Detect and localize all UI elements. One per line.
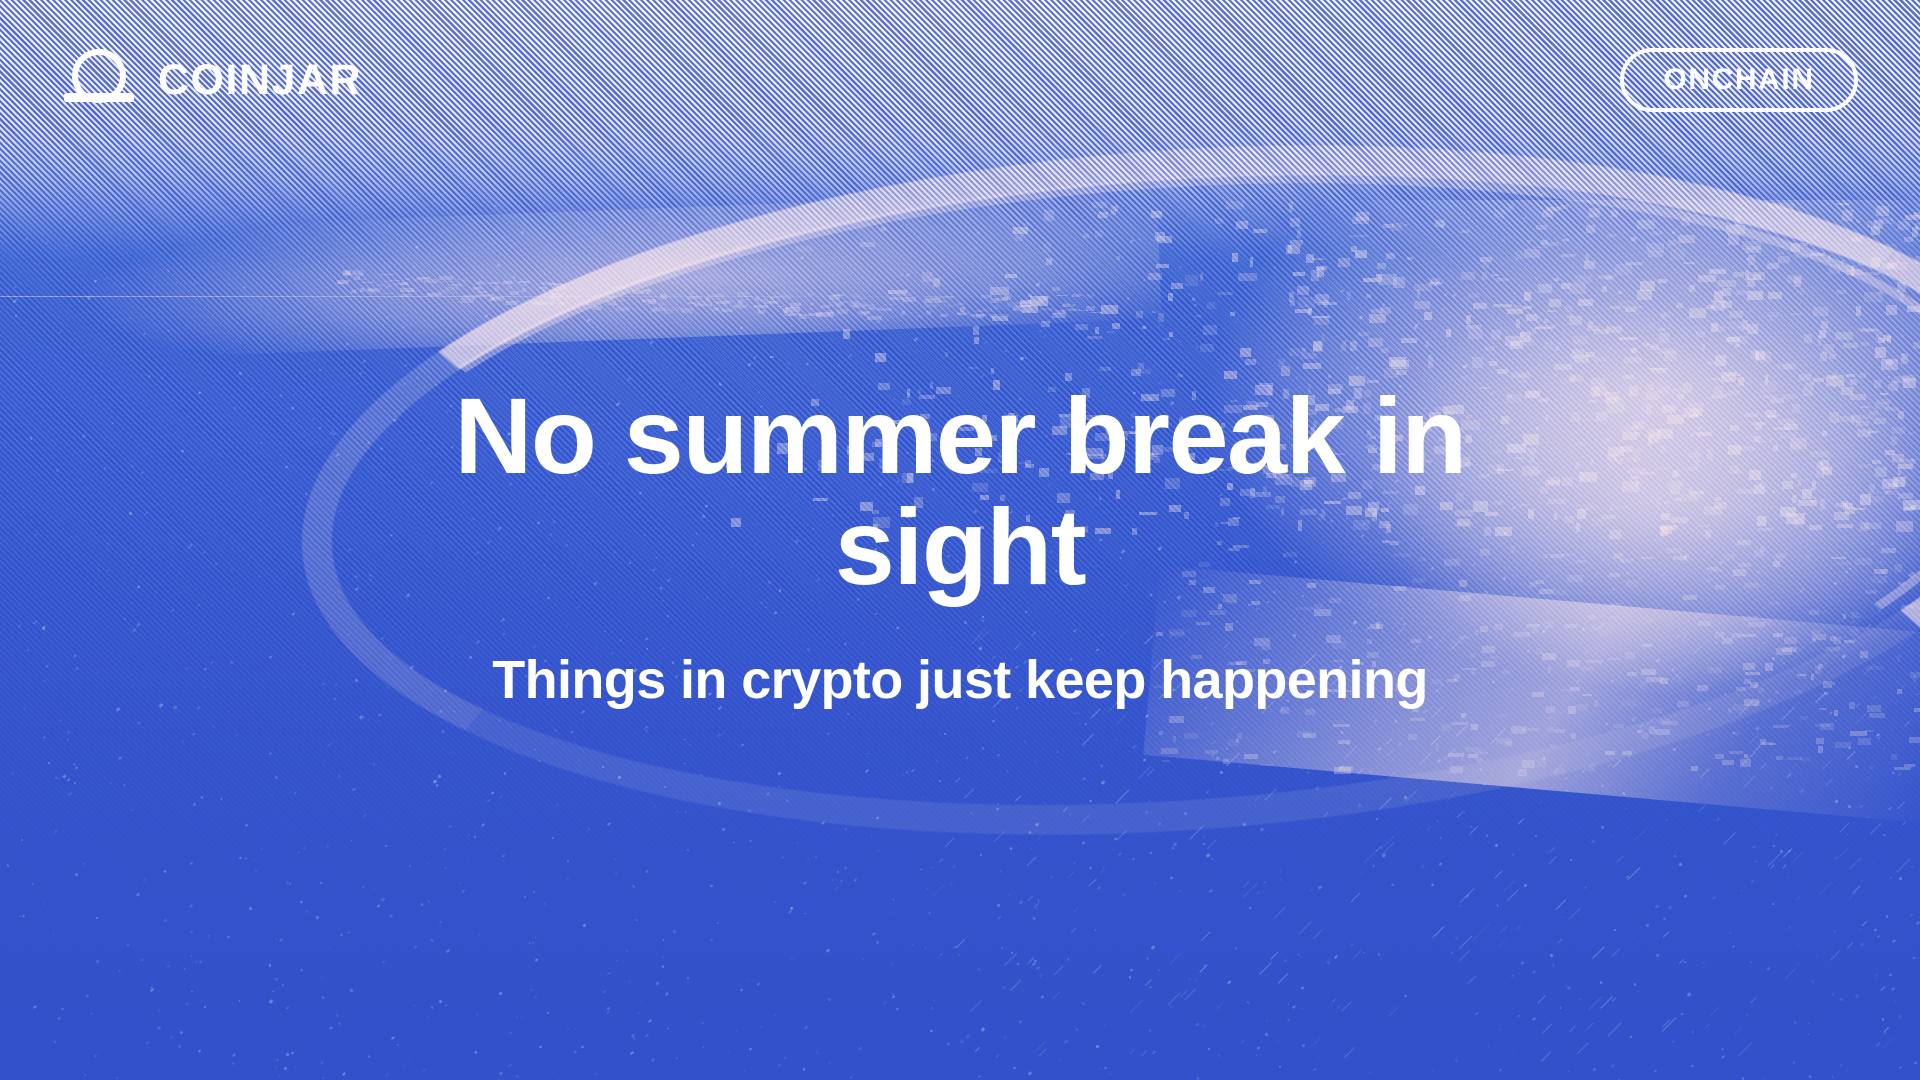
coinjar-wordmark: COINJAR	[158, 59, 362, 102]
onchain-badge[interactable]: ONCHAIN	[1620, 48, 1858, 112]
banner-header: COINJAR ONCHAIN	[0, 0, 1920, 160]
coinjar-brand-logo[interactable]: COINJAR	[62, 47, 362, 114]
coinjar-jar-icon	[62, 47, 136, 114]
hero-content: No summer break in sight Things in crypt…	[0, 380, 1920, 713]
onchain-newsletter-hero-banner: COINJAR ONCHAIN No summer break in sight…	[0, 0, 1920, 1080]
hero-headline: No summer break in sight	[430, 380, 1490, 602]
hero-subheadline: Things in crypto just keep happening	[492, 648, 1427, 713]
